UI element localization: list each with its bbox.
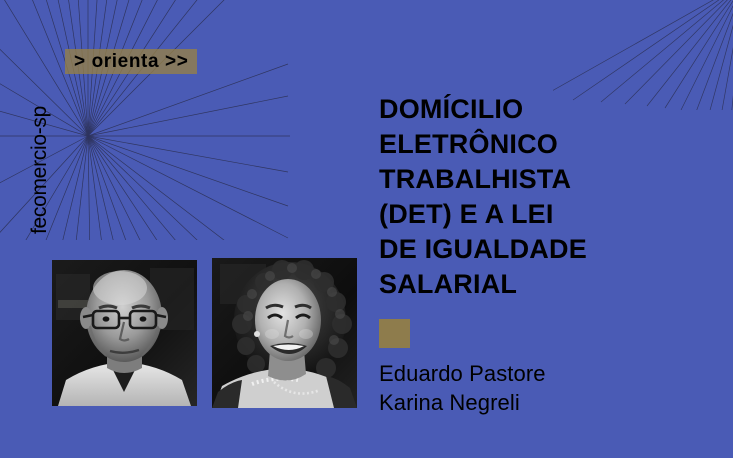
portrait-eduardo-pastore	[52, 260, 197, 406]
promo-banner: fecomercio-sp > orienta >> DOMÍCILIO ELE…	[0, 0, 733, 458]
orienta-badge: > orienta >>	[65, 49, 197, 74]
brand-wordmark: fecomercio-sp	[27, 48, 55, 234]
title-line-4: (DET) E A LEI	[379, 197, 709, 232]
speaker-names: Eduardo Pastore Karina Negreli	[379, 359, 546, 417]
page-title: DOMÍCILIO ELETRÔNICO TRABALHISTA (DET) E…	[379, 92, 709, 302]
portrait-karina-negreli	[212, 258, 357, 408]
brand-label: fecomercio-sp	[29, 106, 50, 234]
title-line-5: DE IGUALDADE	[379, 232, 709, 267]
speaker-name-1: Eduardo Pastore	[379, 359, 546, 388]
orienta-badge-label: > orienta >>	[74, 52, 188, 71]
title-line-1: DOMÍCILIO	[379, 92, 709, 127]
title-line-2: ELETRÔNICO	[379, 127, 709, 162]
speaker-name-2: Karina Negreli	[379, 388, 546, 417]
title-line-6: SALARIAL	[379, 267, 709, 302]
title-line-3: TRABALHISTA	[379, 162, 709, 197]
accent-square	[379, 319, 410, 348]
